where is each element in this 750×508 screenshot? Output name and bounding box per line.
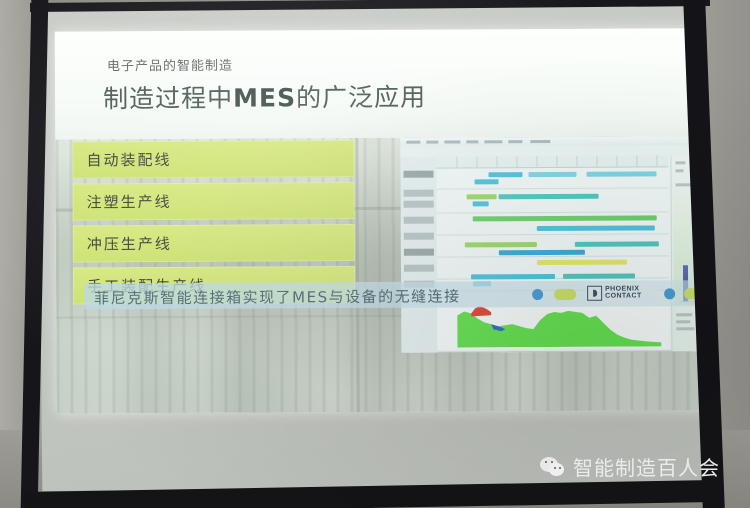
watermark-text: 智能制造百人会 (573, 452, 720, 481)
slide-subtitle: 电子产品的智能制造 (107, 55, 233, 75)
area-chart-svg (457, 302, 661, 347)
list-item[interactable]: 冲压生产线 (73, 224, 355, 262)
phoenix-mark-icon (587, 285, 602, 300)
gantt-timeline-ruler (436, 155, 668, 168)
projection-screen: 电子产品的智能制造 制造过程中MES的广泛应用 自动装配线 注塑生产线 冲压生产… (38, 5, 703, 491)
page-title: 制造过程中MES的广泛应用 (103, 78, 426, 116)
photo-scene: 电子产品的智能制造 制造过程中MES的广泛应用 自动装配线 注塑生产线 冲压生产… (0, 0, 750, 508)
title-prefix: 制造过程中 (103, 84, 233, 114)
list-item[interactable]: 自动装配线 (72, 140, 354, 178)
brand-line-2: CONTACT (605, 293, 642, 300)
decorative-dot-green (554, 289, 576, 300)
phoenix-contact-logo: PHOENIX CONTACT (586, 284, 658, 300)
title-en: MES (233, 83, 296, 112)
list-item[interactable]: 注塑生产线 (73, 182, 355, 220)
decorative-dot-blue-1 (532, 289, 543, 300)
slide-title-band: 电子产品的智能制造 制造过程中MES的广泛应用 (55, 28, 703, 139)
wechat-icon (540, 457, 566, 477)
title-suffix: 的广泛应用 (296, 83, 426, 113)
mes-dashboard-screenshot (400, 136, 702, 353)
gantt-chart[interactable] (436, 155, 669, 288)
production-line-label: 自动装配线 (86, 149, 171, 170)
production-line-label: 冲压生产线 (87, 233, 172, 254)
dashboard-resource-list (400, 157, 437, 353)
banner-text: 菲尼克斯智能连接箱实现了MES与设备的无缝连接 (94, 285, 461, 308)
presentation-slide: 电子产品的智能制造 制造过程中MES的广泛应用 自动装配线 注塑生产线 冲压生产… (55, 28, 703, 413)
decorative-dot-blue-2 (664, 288, 675, 299)
production-line-label: 注塑生产线 (87, 191, 172, 212)
footer-banner: 菲尼克斯智能连接箱实现了MES与设备的无缝连接 PHOENIX CONTACT (84, 280, 702, 309)
watermark: 智能制造百人会 (540, 452, 720, 481)
